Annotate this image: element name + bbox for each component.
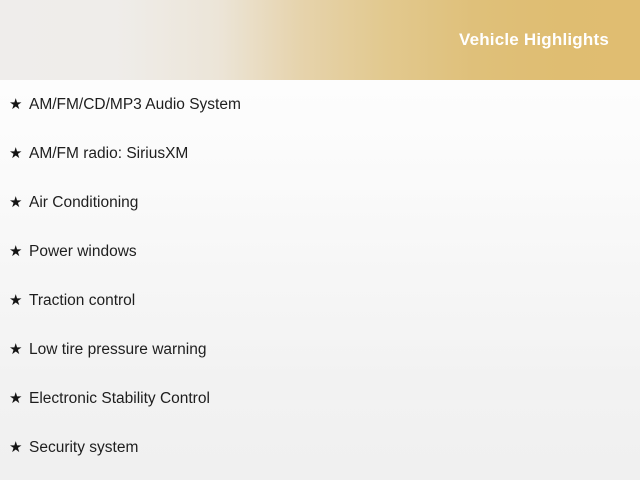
highlight-label: AM/FM radio: SiriusXM (29, 145, 188, 163)
star-icon: ★ (9, 293, 29, 308)
list-item: ★ Low tire pressure warning (0, 325, 640, 374)
highlight-label: Electronic Stability Control (29, 390, 210, 408)
list-item: ★ Air Conditioning (0, 178, 640, 227)
vehicle-highlights-list: ★ AM/FM/CD/MP3 Audio System ★ AM/FM radi… (0, 80, 640, 472)
highlight-label: Security system (29, 439, 138, 457)
list-item: ★ Traction control (0, 276, 640, 325)
list-item: ★ Electronic Stability Control (0, 374, 640, 423)
list-item: ★ AM/FM/CD/MP3 Audio System (0, 80, 640, 129)
highlight-label: Traction control (29, 292, 135, 310)
panel-header: Vehicle Highlights (0, 0, 640, 80)
highlight-label: Air Conditioning (29, 194, 138, 212)
star-icon: ★ (9, 391, 29, 406)
list-item: ★ Power windows (0, 227, 640, 276)
list-item: ★ AM/FM radio: SiriusXM (0, 129, 640, 178)
highlight-label: Power windows (29, 243, 137, 261)
star-icon: ★ (9, 244, 29, 259)
star-icon: ★ (9, 97, 29, 112)
list-item: ★ Security system (0, 423, 640, 472)
star-icon: ★ (9, 195, 29, 210)
highlight-label: AM/FM/CD/MP3 Audio System (29, 96, 241, 114)
star-icon: ★ (9, 440, 29, 455)
page-title: Vehicle Highlights (459, 31, 609, 50)
highlight-label: Low tire pressure warning (29, 341, 206, 359)
vehicle-highlights-panel: Vehicle Highlights ★ AM/FM/CD/MP3 Audio … (0, 0, 640, 480)
star-icon: ★ (9, 146, 29, 161)
star-icon: ★ (9, 342, 29, 357)
